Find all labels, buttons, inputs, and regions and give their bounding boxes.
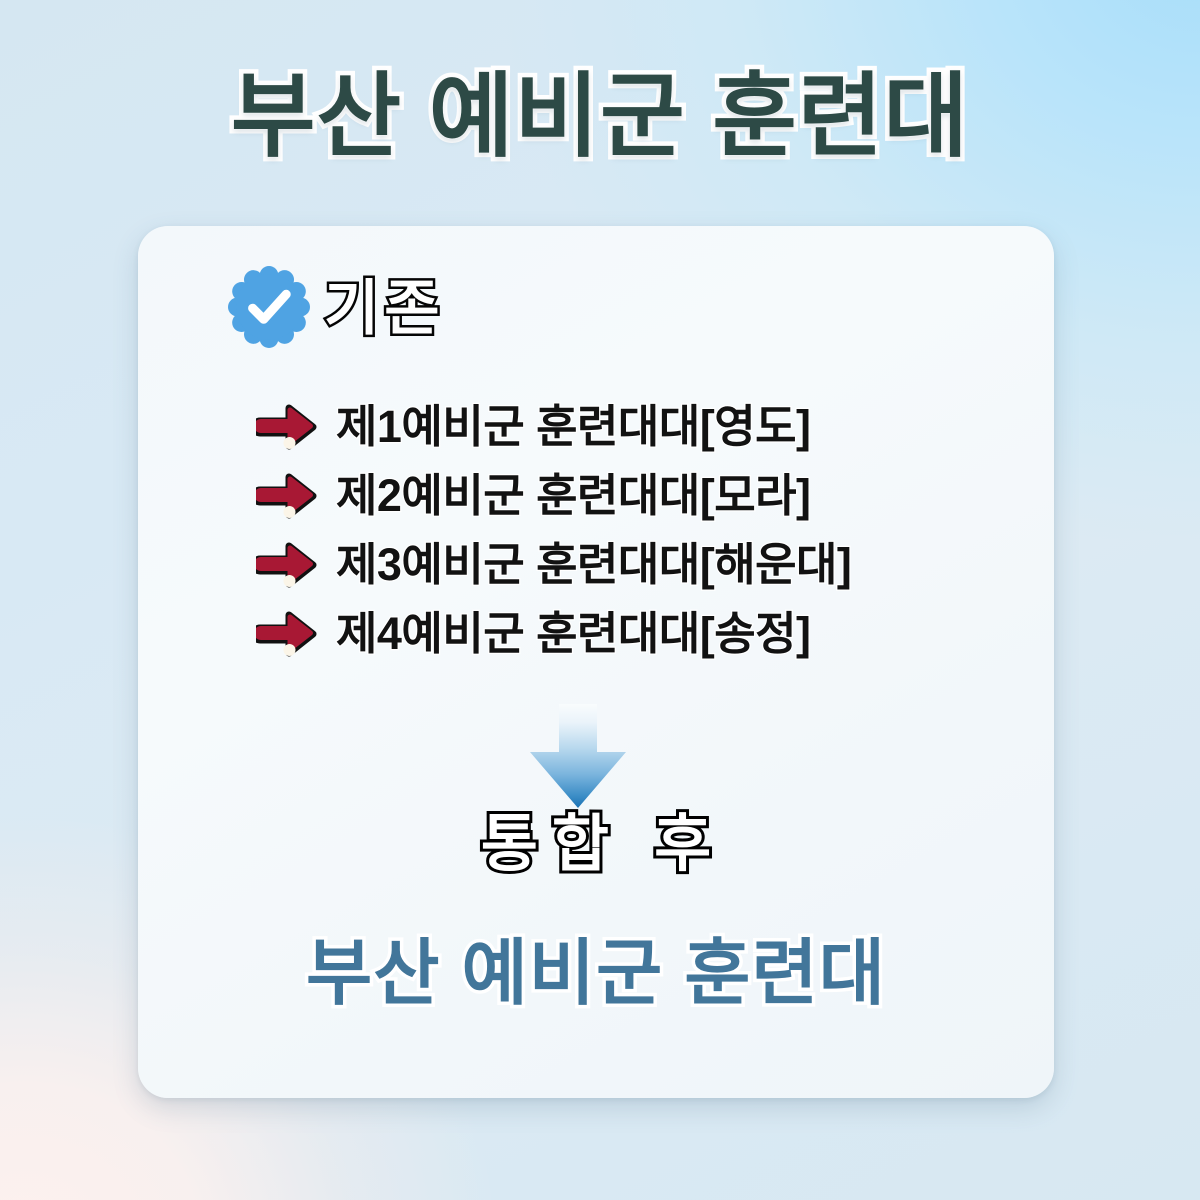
list-item-label: 제1예비군 훈련대대[영도]: [336, 404, 811, 449]
right-arrow-icon: [256, 404, 318, 450]
result-label: 부산 예비군 훈련대: [306, 938, 886, 1010]
down-arrow-icon: [530, 704, 626, 808]
after-merge-heading: 통합 후: [138, 814, 1054, 876]
result-heading: 부산 예비군 훈련대: [138, 938, 1054, 1010]
list-item: 제3예비군 훈련대대[해운대]: [256, 530, 851, 599]
right-arrow-icon: [256, 542, 318, 588]
list-item-label: 제3예비군 훈련대대[해운대]: [336, 542, 851, 587]
existing-section-label: 기존: [324, 279, 444, 339]
list-item: 제1예비군 훈련대대[영도]: [256, 392, 851, 461]
content-card: 기존 제1예비군 훈련대대[영도]: [138, 226, 1054, 1098]
poster-title: 부산 예비군 훈련대: [0, 68, 1200, 167]
after-merge-label: 통합 후: [467, 814, 725, 876]
poster-canvas: 부산 예비군 훈련대: [0, 0, 1200, 1200]
right-arrow-icon: [256, 473, 318, 519]
existing-section-header: 기존: [228, 266, 444, 348]
unit-list: 제1예비군 훈련대대[영도] 제2예비군 훈련대대[모라]: [256, 392, 851, 668]
list-item: 제2예비군 훈련대대[모라]: [256, 461, 851, 530]
poster-title-text: 부산 예비군 훈련대: [231, 68, 969, 167]
right-arrow-icon: [256, 611, 318, 657]
list-item-label: 제4예비군 훈련대대[송정]: [336, 611, 811, 656]
list-item-label: 제2예비군 훈련대대[모라]: [336, 473, 811, 518]
list-item: 제4예비군 훈련대대[송정]: [256, 599, 851, 668]
verified-check-badge-icon: [228, 266, 310, 348]
